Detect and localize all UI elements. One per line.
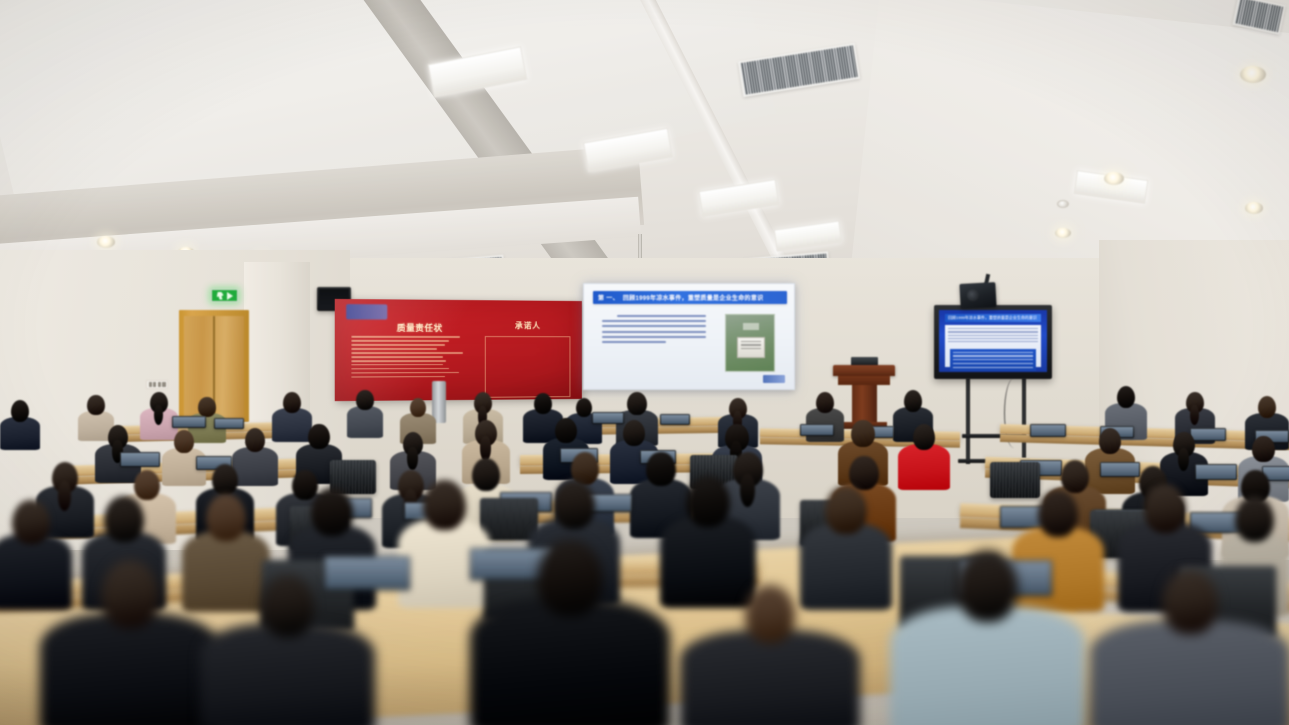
switch-toggle-icon[interactable]: [162, 382, 165, 387]
attendee-head: [555, 418, 577, 443]
attendee: [890, 550, 1085, 725]
attendee-head: [745, 585, 795, 643]
attendee-head: [904, 390, 923, 412]
desk-monitor-screen: [1031, 425, 1065, 436]
attendee-head: [1038, 490, 1078, 537]
tv-sel-line: [953, 355, 1033, 356]
switch-toggle-icon[interactable]: [149, 382, 152, 387]
attendee-head: [1099, 428, 1121, 454]
banner-text-line: [351, 356, 442, 358]
ceiling-spot-light: [1245, 202, 1263, 214]
attendee-head: [849, 456, 878, 490]
slide-title-bar: 第 一、 回顾1999年凉水事件，重塑质量是企业生命的意识: [593, 291, 787, 304]
arrow-right-icon: [227, 292, 233, 300]
desk-monitor-screen: [801, 425, 833, 435]
tv-screen: 回顾1999年凉水事件，重塑质量是企业生命的意识: [939, 310, 1047, 372]
light-switch-plate[interactable]: [146, 380, 168, 389]
lectern-top: [833, 365, 895, 376]
attendee-torso: [890, 606, 1085, 725]
attendee-ponytail: [407, 447, 417, 470]
tv-doc-line: [948, 335, 1038, 336]
switch-toggle-icon[interactable]: [158, 382, 161, 387]
ceiling-spot-light: [1240, 66, 1266, 83]
attendee-head: [87, 395, 104, 415]
attendee-head: [261, 575, 314, 637]
tv-sel-line: [953, 359, 1033, 360]
tv-doc-line: [948, 331, 1038, 332]
desk-monitor: [660, 414, 690, 425]
ceiling-spot-light: [97, 236, 115, 248]
lectern-column: [852, 385, 877, 423]
slide-text-line: [602, 331, 706, 333]
speaker-cone-icon: [967, 289, 980, 302]
attendee-torso: [680, 630, 860, 725]
slide-body: [598, 310, 783, 378]
desk-monitor: [1030, 424, 1066, 437]
attendee-head: [1252, 436, 1274, 462]
attendee-torso: [470, 599, 670, 725]
slide-title-prefix: 第 一、: [598, 293, 619, 302]
smoke-detector-icon: [1057, 200, 1069, 208]
banner-company-logo-icon: [346, 304, 387, 320]
attendee-head: [816, 392, 834, 413]
attendee-head: [174, 430, 194, 453]
tv-sel-line: [953, 367, 1033, 368]
tv-highlighted-block: [950, 349, 1036, 371]
attendee-head: [957, 550, 1019, 622]
attendee-head: [576, 398, 592, 417]
attendee-head: [1162, 570, 1217, 634]
banner-text-line: [351, 372, 459, 374]
banner-text-line: [351, 336, 459, 338]
attendee-head: [1235, 496, 1275, 542]
attendee: [40, 560, 220, 725]
banner-text-line: [351, 344, 445, 346]
attendee-torso: [347, 406, 383, 438]
attendee-head: [627, 392, 647, 415]
quality-pledge-banner: 质量责任状 承诺人: [335, 299, 582, 401]
attendee-head: [311, 488, 352, 536]
tv-sel-line: [953, 363, 1033, 364]
attendee-ponytail: [1190, 405, 1199, 425]
attendee: [898, 424, 950, 490]
running-man-icon: [217, 292, 224, 300]
slide-text-line: [617, 315, 706, 317]
banner-signature-box: [485, 336, 571, 398]
desk-monitor-screen: [121, 453, 159, 466]
attendee-head: [423, 480, 466, 530]
attendee: [680, 585, 860, 725]
attendee-head: [245, 428, 266, 452]
banner-body-text: [351, 336, 465, 378]
slide-text-line: [602, 320, 706, 322]
attendee-head: [537, 540, 602, 616]
desk-monitor: [120, 452, 160, 467]
attendee-head: [212, 464, 239, 495]
attendee-head: [410, 398, 426, 417]
lectern-apron: [838, 376, 890, 385]
attendee-head: [534, 393, 552, 414]
tv-slide-title-bar: 回顾1999年凉水事件，重塑质量是企业生命的意识: [945, 314, 1041, 322]
attendee-torso: [898, 444, 950, 490]
desk-monitor-screen: [173, 417, 205, 427]
desk-monitor-screen: [661, 415, 689, 424]
ceiling-spot-light: [1104, 172, 1124, 185]
attendee: [470, 540, 670, 725]
slide-photo-highlight: [743, 323, 759, 330]
attendee-torso: [40, 613, 220, 725]
banner-title: 质量责任状: [364, 322, 475, 335]
slide-text-line: [602, 341, 666, 343]
plaque-line: [741, 344, 761, 345]
tv-sel-line: [953, 352, 1033, 353]
plaque-line: [741, 341, 761, 342]
attendee-head: [686, 476, 730, 527]
plaque-line: [741, 348, 761, 349]
attendee-head: [1117, 386, 1136, 408]
banner-text-line: [351, 340, 449, 342]
attendee: [0, 400, 40, 450]
wall-television: 回顾1999年凉水事件，重塑质量是企业生命的意识: [934, 305, 1052, 379]
attendee-head: [1258, 396, 1277, 418]
attendee-ponytail: [154, 405, 163, 425]
banner-subtitle: 承诺人: [489, 320, 567, 331]
slide-text-line: [602, 325, 706, 327]
banner-text-line: [351, 352, 463, 354]
attendee-head: [12, 500, 50, 544]
desk-monitor-screen: [215, 419, 243, 428]
attendee: [347, 390, 383, 438]
conference-room-photo: 质量责任状 承诺人 第 一、 回顾1999年凉水事件，重塑质量是企业生命的意识: [0, 0, 1289, 725]
attendee-head: [104, 496, 144, 542]
projection-screen: 第 一、 回顾1999年凉水事件，重塑质量是企业生命的意识: [583, 283, 795, 390]
tv-doc-line: [948, 328, 1038, 329]
attendee: [1090, 570, 1289, 725]
tv-doc-line: [948, 338, 1038, 339]
attendee-head: [283, 392, 301, 413]
banner-text-line: [351, 368, 449, 370]
slide-text-line: [602, 336, 706, 338]
attendee-head: [851, 420, 874, 447]
wall-speaker-icon: [959, 282, 996, 309]
desk-monitor: [172, 416, 206, 428]
banner-text-line: [351, 364, 443, 366]
switch-toggle-icon[interactable]: [153, 382, 156, 387]
tv-document-area: [945, 325, 1041, 367]
tv-doc-line: [948, 341, 1038, 342]
slide-photo-plaque: [737, 337, 765, 358]
attendee-head: [308, 424, 330, 449]
attendee-head: [101, 560, 159, 628]
slide-paragraph: [602, 315, 706, 346]
attendee-head: [11, 400, 30, 422]
attendee-head: [1061, 460, 1089, 493]
attendee-head: [553, 480, 595, 529]
attendee: [200, 575, 375, 725]
attendee-head: [1144, 484, 1186, 533]
tv-slide-title: 回顾1999年凉水事件，重塑质量是企业生命的意识: [948, 315, 1037, 321]
banner-text-line: [351, 348, 437, 350]
attendee-head: [825, 486, 866, 534]
slide-footer-logo-icon: [763, 375, 785, 383]
attendee-head: [913, 424, 935, 450]
tv-cart-leg: [966, 378, 970, 464]
banner-text-line: [351, 376, 445, 378]
desk-monitor: [800, 424, 834, 436]
attendee-torso: [0, 417, 40, 450]
attendee-torso: [1090, 620, 1289, 725]
attendee-head: [206, 494, 246, 541]
attendee-torso: [200, 623, 375, 725]
slide-photo: [725, 314, 775, 372]
attendee-head: [623, 420, 645, 446]
attendee-head: [198, 397, 215, 417]
attendee-head: [356, 390, 373, 410]
emergency-exit-sign: [211, 289, 238, 302]
banner-text-line: [351, 360, 446, 362]
slide-title-text: 回顾1999年凉水事件，重塑质量是企业生命的意识: [623, 293, 764, 302]
